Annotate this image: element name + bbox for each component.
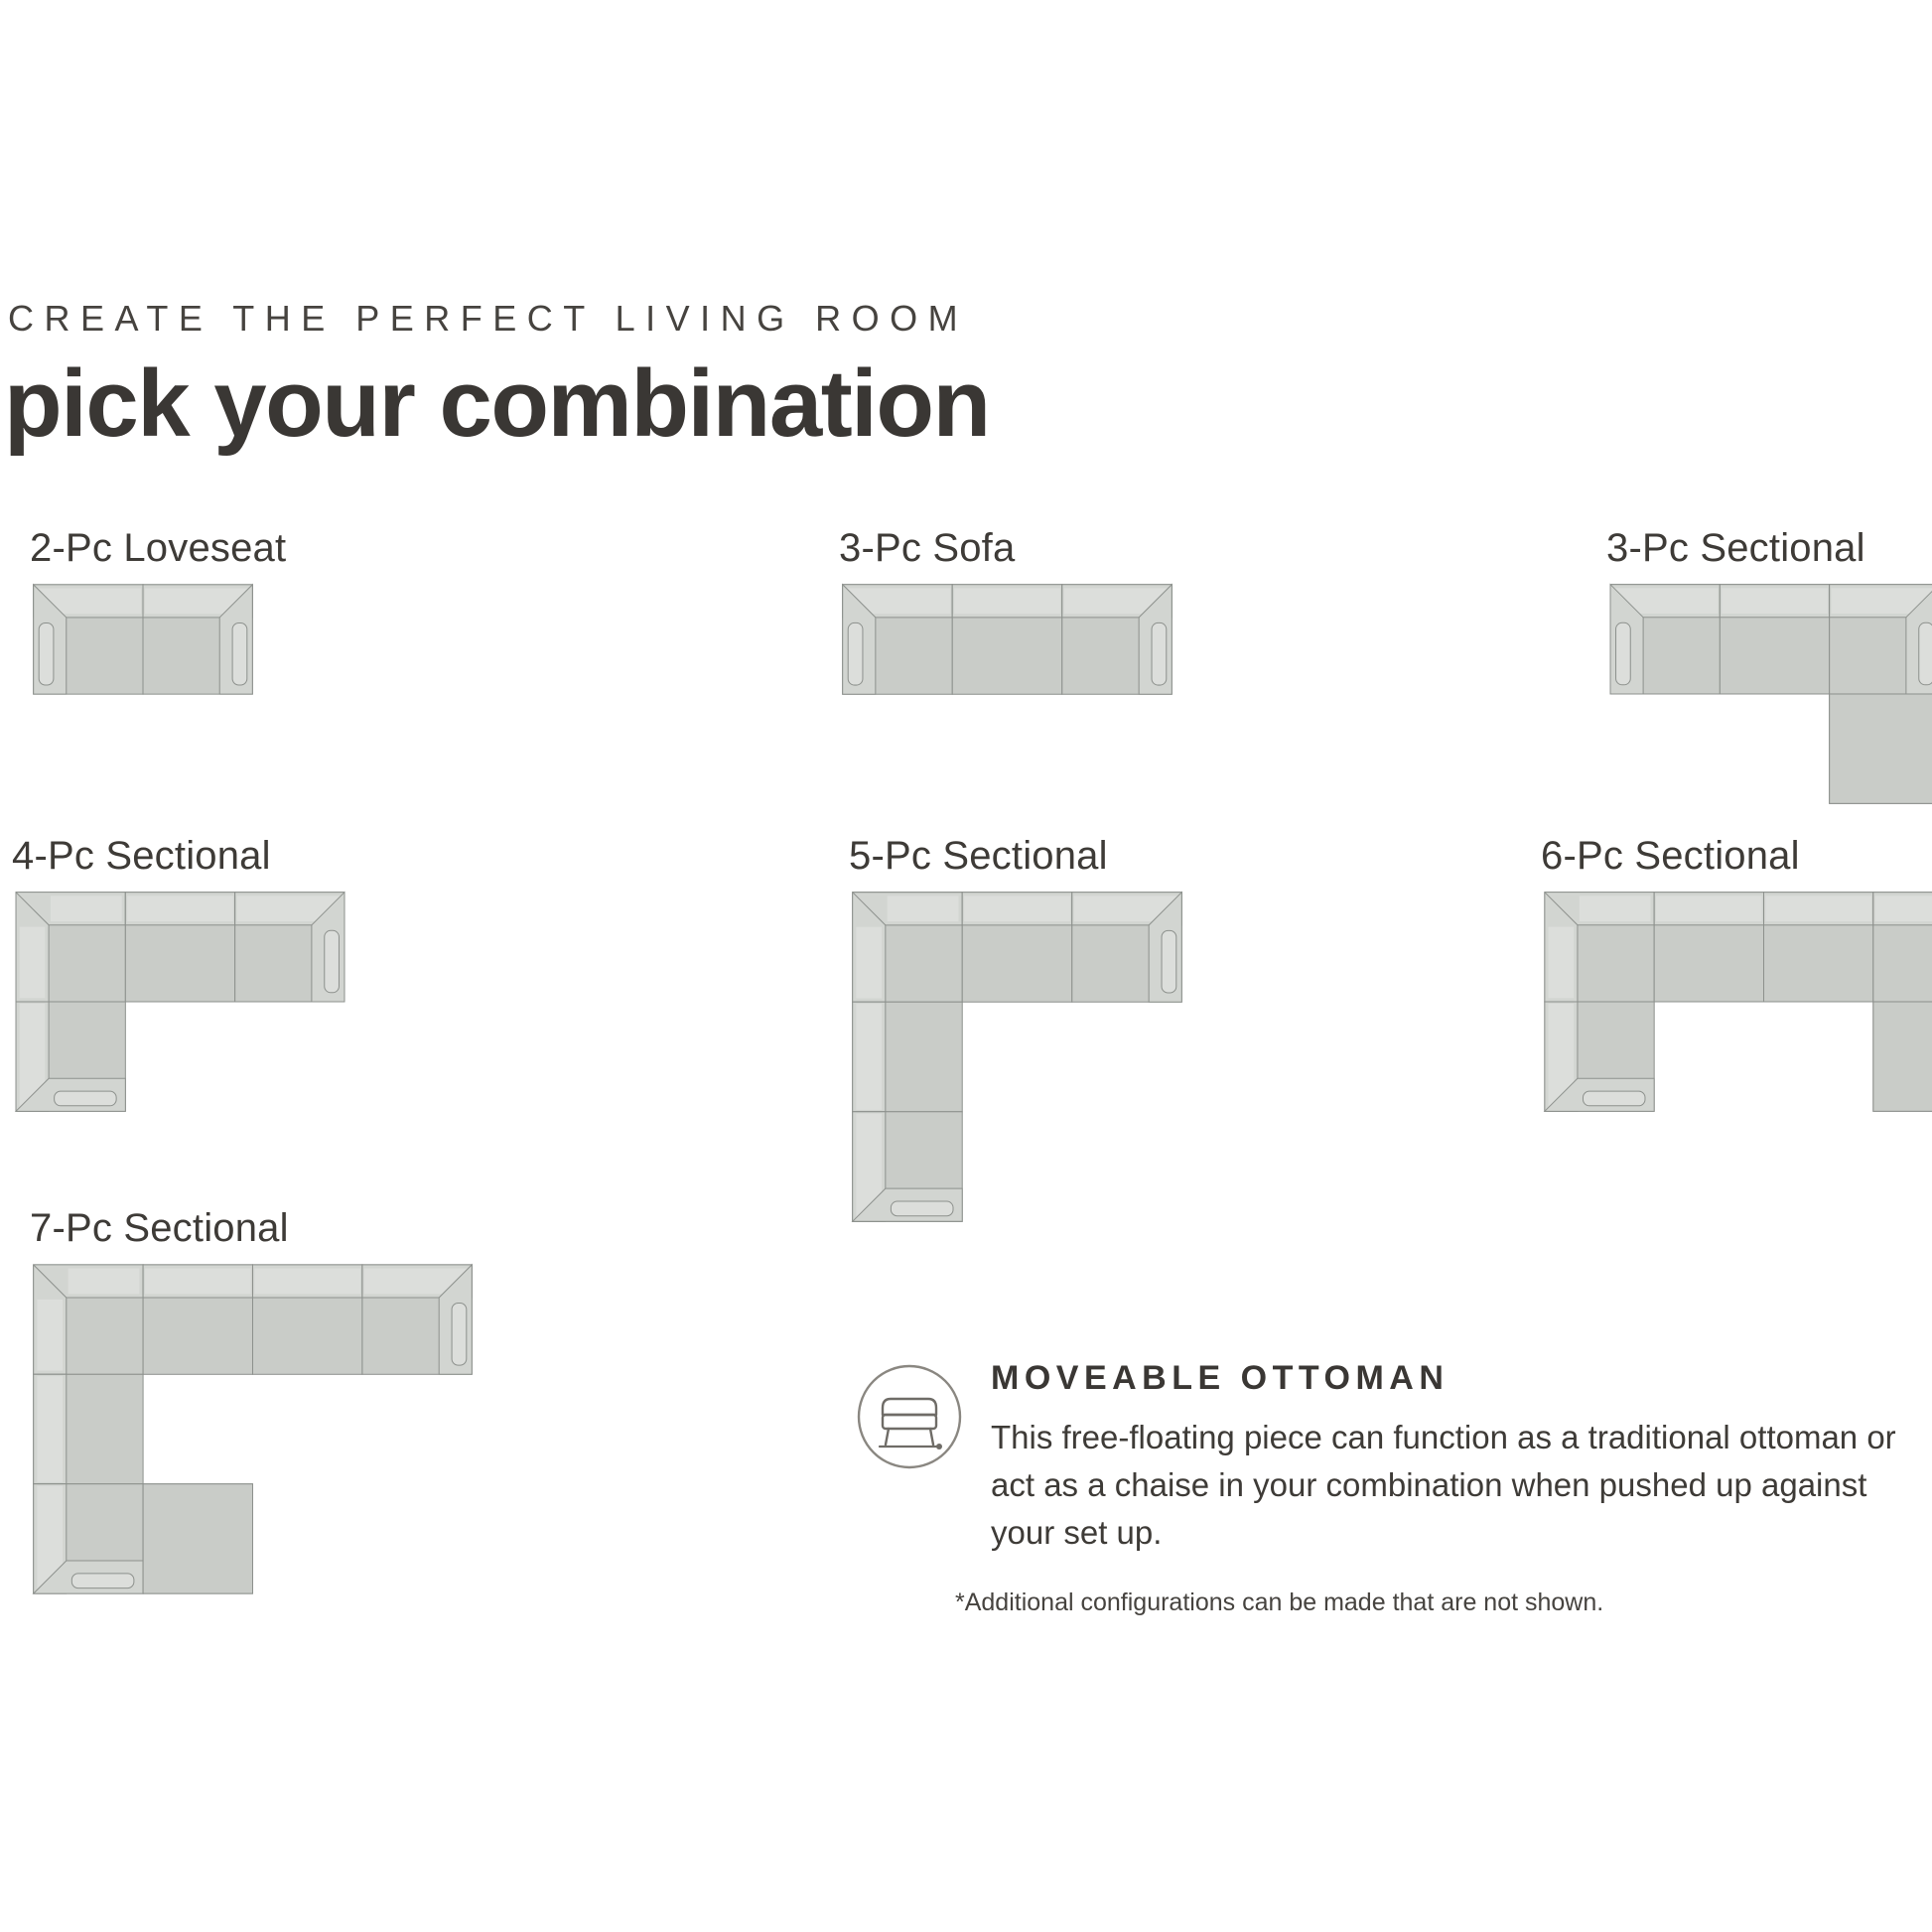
combination-diagram [30, 1261, 476, 1597]
combination-label: 3-Pc Sofa [839, 526, 1175, 571]
combination-sectional-7pc[interactable]: 7-Pc Sectional [30, 1206, 476, 1597]
combination-sectional-5pc[interactable]: 5-Pc Sectional [849, 834, 1185, 1225]
combination-diagram [12, 889, 348, 1115]
combination-label: 5-Pc Sectional [849, 834, 1185, 879]
combination-diagram [1606, 581, 1932, 807]
combination-sofa-3pc[interactable]: 3-Pc Sofa [839, 526, 1175, 698]
infographic-page: CREATE THE PERFECT LIVING ROOM pick your… [0, 0, 1932, 1932]
combination-label: 6-Pc Sectional [1541, 834, 1932, 879]
combination-label: 3-Pc Sectional [1606, 526, 1932, 571]
combination-diagram [1541, 889, 1932, 1115]
page-title: pick your combination [4, 349, 990, 459]
combination-diagram [849, 889, 1185, 1225]
callout-title: MOVEABLE OTTOMAN [991, 1359, 1932, 1398]
combination-sectional-3pc[interactable]: 3-Pc Sectional [1606, 526, 1932, 807]
combination-sectional-6pc[interactable]: 6-Pc Sectional [1541, 834, 1932, 1115]
combination-label: 4-Pc Sectional [12, 834, 348, 879]
combination-label: 7-Pc Sectional [30, 1206, 476, 1251]
ottoman-icon [854, 1361, 965, 1477]
combination-diagram [30, 581, 286, 698]
combination-loveseat-2pc[interactable]: 2-Pc Loveseat [30, 526, 286, 698]
callout-description: This free-floating piece can function as… [991, 1414, 1932, 1557]
eyebrow-heading: CREATE THE PERFECT LIVING ROOM [8, 298, 968, 340]
combination-label: 2-Pc Loveseat [30, 526, 286, 571]
combination-diagram [839, 581, 1175, 698]
footnote: *Additional configurations can be made t… [955, 1588, 1603, 1617]
moveable-ottoman-callout: MOVEABLE OTTOMAN This free-floating piec… [854, 1355, 1932, 1557]
combination-sectional-4pc[interactable]: 4-Pc Sectional [12, 834, 348, 1115]
